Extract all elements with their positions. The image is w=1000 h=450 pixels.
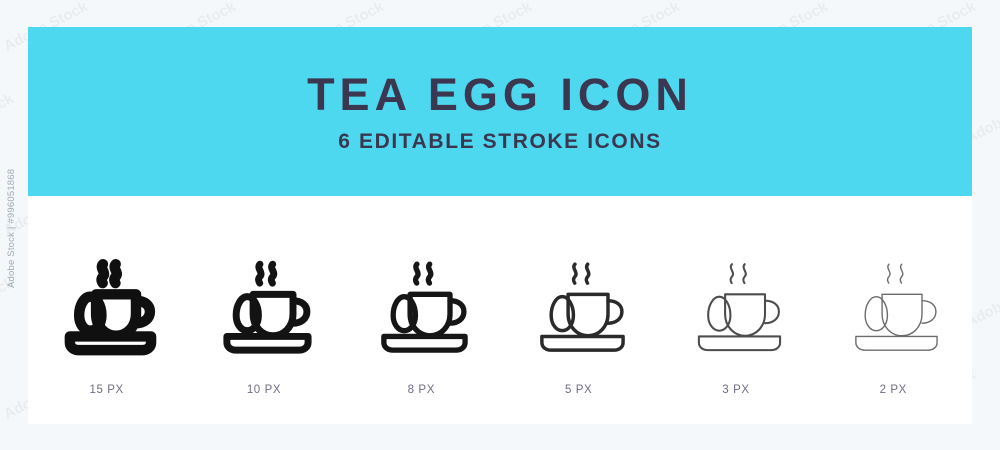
tea-egg-icon [835, 252, 951, 368]
page-subtitle: 6 EDITABLE STROKE ICONS [338, 131, 661, 152]
watermark-tile: Adobe Stock [0, 90, 17, 147]
icon-size-label: 5 PX [565, 384, 592, 396]
icon-variant-row: 15 PX10 PX8 PX5 PX3 PX2 PX [28, 196, 972, 396]
icon-variant-3-px[interactable]: 3 PX [661, 252, 811, 396]
icon-size-label: 15 PX [89, 384, 123, 396]
icon-size-label: 3 PX [722, 384, 749, 396]
header-panel: TEA EGG ICON 6 EDITABLE STROKE ICONS [28, 27, 972, 196]
screenshot-canvas: Adobe StockAdobe StockAdobe StockAdobe S… [0, 0, 1000, 450]
icon-variant-10-px[interactable]: 10 PX [189, 252, 339, 396]
content-panel: 15 PX10 PX8 PX5 PX3 PX2 PX [28, 196, 972, 424]
tea-egg-icon [678, 252, 794, 368]
icon-variant-8-px[interactable]: 8 PX [346, 252, 496, 396]
tea-egg-icon [521, 252, 637, 368]
icon-size-label: 8 PX [408, 384, 435, 396]
icon-variant-15-px[interactable]: 15 PX [32, 252, 182, 396]
watermark-tile: Adobe Stock [0, 274, 17, 331]
adobe-stock-watermark: Adobe Stock | #996051868 [6, 169, 17, 288]
page-title: TEA EGG ICON [307, 72, 693, 117]
tea-egg-icon [363, 252, 479, 368]
tea-egg-icon [49, 252, 165, 368]
icon-variant-5-px[interactable]: 5 PX [504, 252, 654, 396]
tea-egg-icon [206, 252, 322, 368]
icon-variant-2-px[interactable]: 2 PX [818, 252, 968, 396]
icon-size-label: 2 PX [880, 384, 907, 396]
icon-size-label: 10 PX [247, 384, 281, 396]
